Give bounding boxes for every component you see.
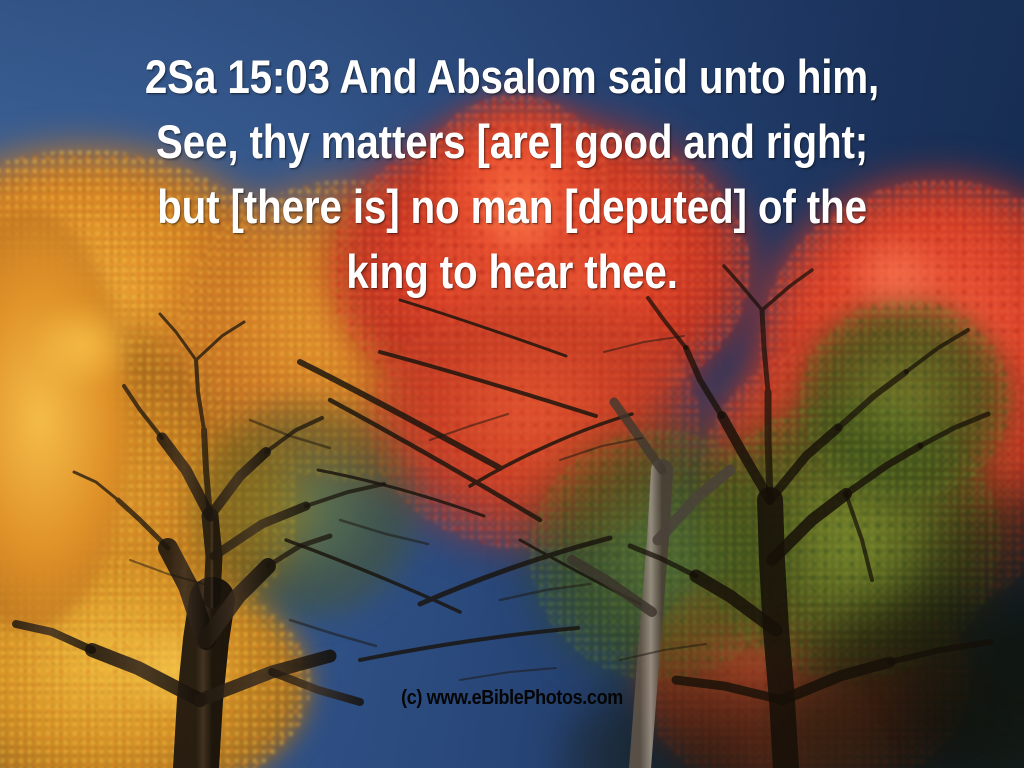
tree-trunk-left: [16, 438, 360, 768]
verse-line-3: but [there is] no man [deputed] of the: [72, 174, 953, 239]
verse-text-overlay: 2Sa 15:03 And Absalom said unto him, See…: [72, 44, 953, 304]
branches-center-sky: [286, 300, 660, 660]
verse-line-1: 2Sa 15:03 And Absalom said unto him,: [72, 44, 953, 109]
tree-twigs-right: [630, 266, 990, 662]
verse-line-2: See, thy matters [are] good and right;: [72, 109, 953, 174]
photo-canvas: 2Sa 15:03 And Absalom said unto him, See…: [0, 0, 1024, 768]
copyright-watermark: (c) www.eBiblePhotos.com: [51, 688, 973, 708]
verse-line-4: king to hear thee.: [72, 239, 953, 304]
tree-twigs-left: [74, 314, 384, 566]
